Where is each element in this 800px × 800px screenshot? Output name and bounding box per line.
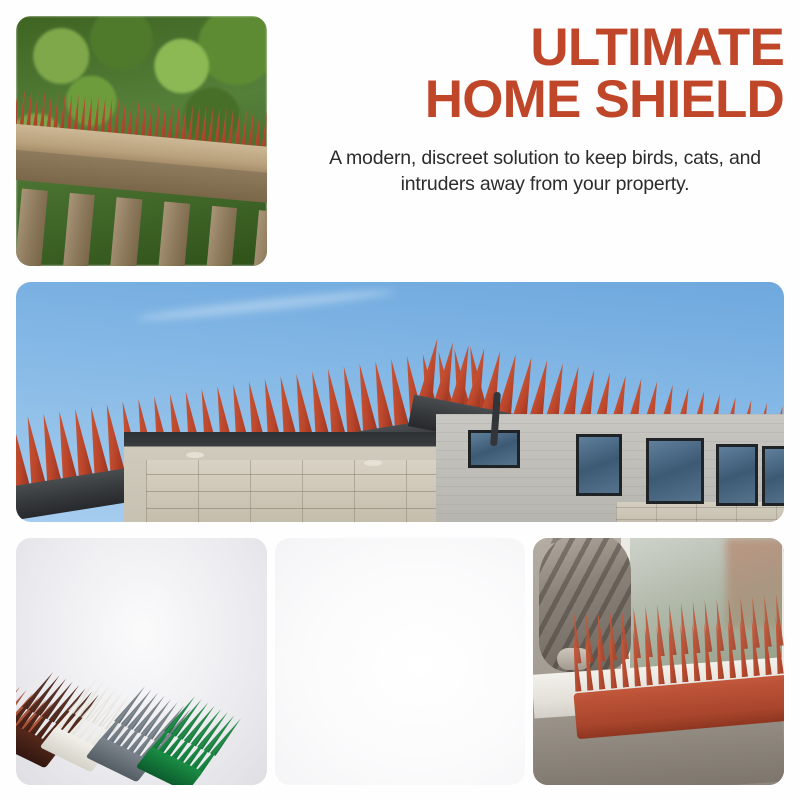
product-color-lineup-photo [16,538,267,785]
window-c [646,438,704,504]
soffit-light-2 [364,460,382,466]
stone-base-right [616,502,784,522]
window-b [576,434,622,496]
blank-placeholder-panel [275,538,525,785]
window-d [716,444,758,506]
deck-railing-photo [16,16,267,266]
page-subtitle: A modern, discreet solution to keep bird… [292,146,784,197]
soffit-light-1 [186,452,204,458]
hero-text-block: ULTIMATE HOME SHIELD A modern, discreet … [292,22,784,197]
product-marketing-page: ULTIMATE HOME SHIELD A modern, discreet … [0,0,800,800]
window-e [762,446,784,506]
roof-corner-photo [16,282,784,522]
cat-windowsill-photo [533,538,784,785]
page-title: ULTIMATE HOME SHIELD [292,22,784,126]
